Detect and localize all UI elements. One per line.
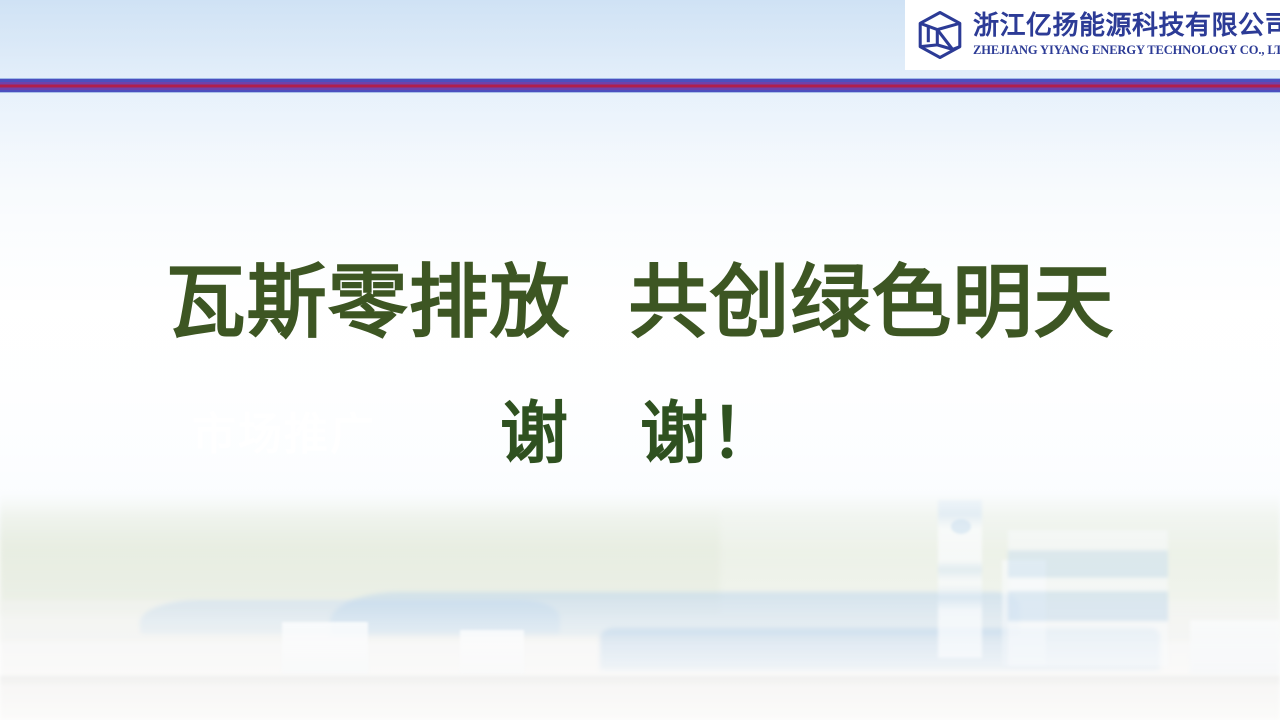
background-white-veil bbox=[0, 0, 1280, 720]
thank-you-text: 谢 谢！ bbox=[0, 397, 1280, 473]
hexagon-crystal-logo-icon bbox=[913, 8, 967, 62]
company-name-block: 浙江亿扬能源科技有限公司 ZHEJIANG YIYANG ENERGY TECH… bbox=[973, 12, 1280, 57]
background-photo bbox=[0, 0, 1280, 720]
slide-headline: 瓦斯零排放 共创绿色明天 bbox=[0, 258, 1280, 348]
tricolor-divider bbox=[0, 78, 1280, 93]
presentation-slide: 市场推广 浙江亿扬能源科技有限公司 ZHEJIANG YIYANG ENERGY… bbox=[0, 0, 1280, 720]
company-logo-block: 浙江亿扬能源科技有限公司 ZHEJIANG YIYANG ENERGY TECH… bbox=[905, 0, 1280, 70]
company-name-en: ZHEJIANG YIYANG ENERGY TECHNOLOGY CO., L… bbox=[973, 43, 1280, 58]
company-name-cn: 浙江亿扬能源科技有限公司 bbox=[973, 12, 1280, 40]
